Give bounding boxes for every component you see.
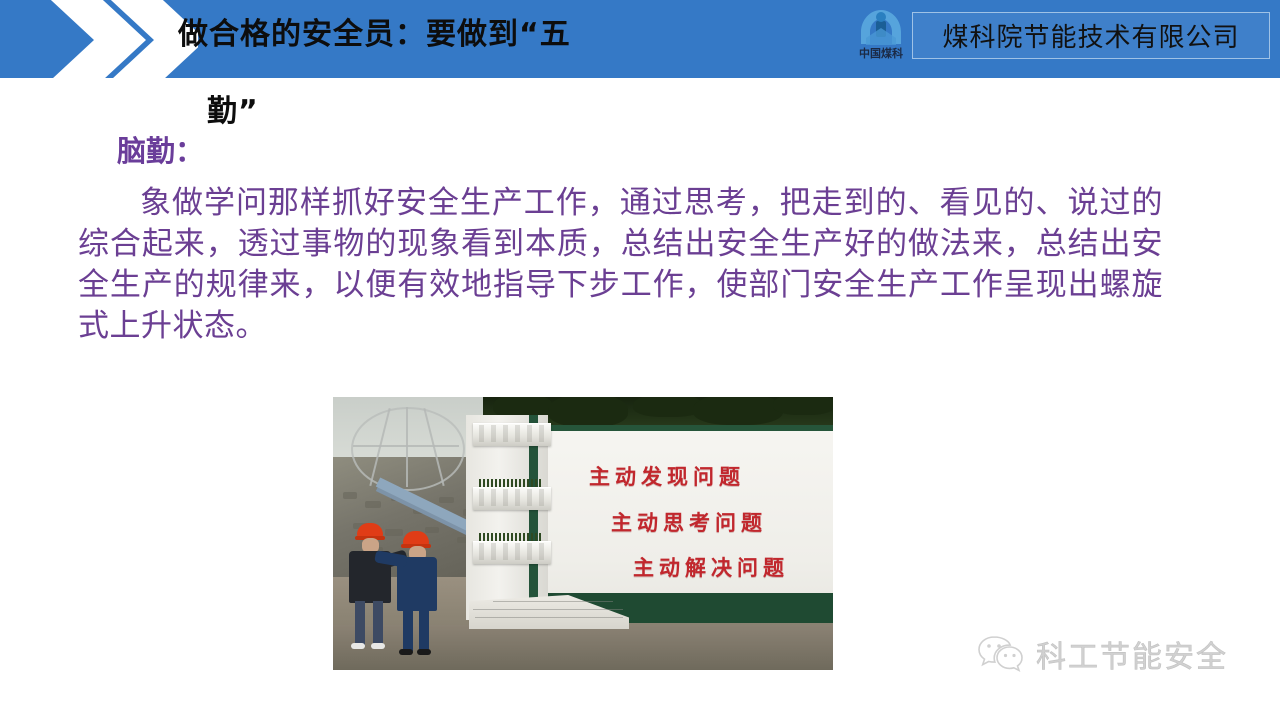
photo-wall-cap bbox=[543, 425, 833, 431]
photo-rock bbox=[439, 497, 454, 503]
double-chevron-right-icon bbox=[28, 0, 198, 78]
company-name-box: 煤科院节能技术有限公司 bbox=[912, 12, 1270, 59]
photo-frame-line bbox=[406, 407, 408, 487]
photo-rock bbox=[385, 529, 403, 536]
body-paragraph: 象做学问那样抓好安全生产工作，通过思考，把走到的、看见的、说过的综合起来，透过事… bbox=[78, 183, 1163, 347]
photo-spherical-frame bbox=[351, 407, 465, 491]
photo-wall-slogan-2: 主动思考问题 bbox=[611, 507, 767, 537]
page-title: 做合格的安全员：要做到“五 bbox=[178, 16, 571, 54]
logo-caption: 中国煤科 bbox=[850, 48, 912, 59]
photo-rock bbox=[425, 527, 439, 533]
photo-rock bbox=[365, 501, 381, 508]
photo-wall-slogan-1: 主动发现问题 bbox=[589, 461, 745, 491]
china-coal-technology-emblem-icon bbox=[858, 8, 904, 48]
photo-tree bbox=[773, 397, 833, 415]
section-sub-heading: 脑勤： bbox=[117, 128, 204, 170]
photo-frame-line bbox=[353, 445, 459, 447]
company-logo: 中国煤科 bbox=[850, 8, 912, 70]
wechat-icon bbox=[978, 635, 1024, 673]
photo-tree bbox=[693, 397, 783, 425]
page-title-wrap: 勤” bbox=[207, 86, 259, 130]
watermark-label: 科工节能安全 bbox=[1036, 632, 1228, 676]
company-name-label: 煤科院节能技术有限公司 bbox=[942, 17, 1239, 54]
photo-rock bbox=[343, 492, 357, 499]
safety-slogan-wall-photo: 主动发现问题 主动思考问题 主动解决问题 bbox=[333, 397, 833, 670]
wechat-watermark: 科工节能安全 bbox=[978, 632, 1228, 676]
photo-tree bbox=[548, 397, 628, 427]
photo-wall-slogan-3: 主动解决问题 bbox=[633, 552, 789, 582]
